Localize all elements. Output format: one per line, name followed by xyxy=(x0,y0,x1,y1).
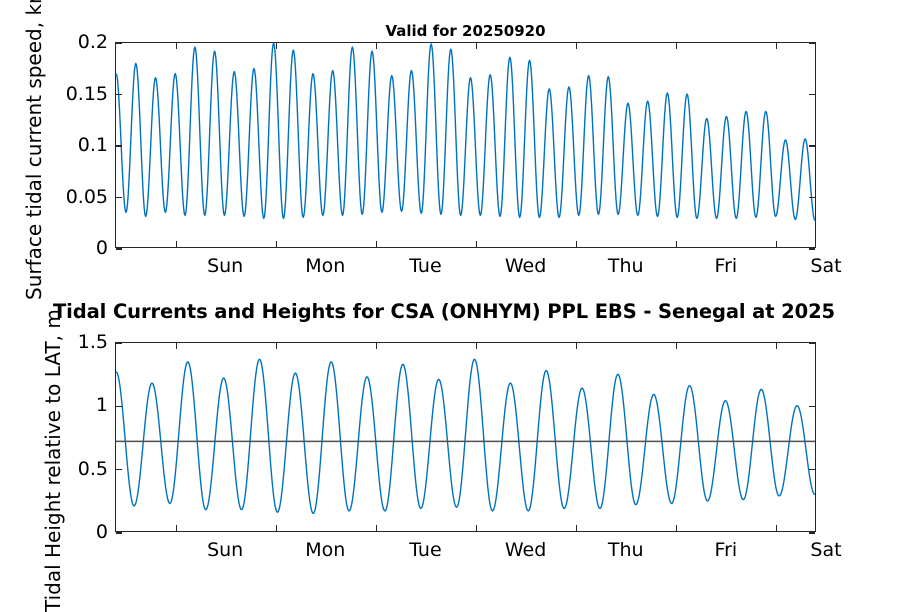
x-tick-mark xyxy=(176,43,177,49)
x-tick-mark xyxy=(176,343,177,349)
x-tick-label: Sun xyxy=(207,255,243,277)
x-tick-mark xyxy=(676,343,677,349)
y-tick-mark xyxy=(116,406,122,407)
y-tick-label: 0.2 xyxy=(78,31,108,53)
y-tick-label: 0 xyxy=(96,521,108,543)
x-tick-mark xyxy=(576,525,577,531)
x-tick-mark xyxy=(276,241,277,247)
x-tick-mark xyxy=(176,241,177,247)
y-tick-mark xyxy=(116,532,122,533)
x-tick-mark xyxy=(576,43,577,49)
y-tick-mark xyxy=(809,248,815,249)
y-tick-mark xyxy=(809,532,815,533)
tidal-figure: Valid for 20250920 00.050.10.150.2 Surfa… xyxy=(0,0,900,600)
y-tick-mark xyxy=(809,42,815,43)
y-tick-label: 1 xyxy=(96,394,108,416)
x-tick-label: Sun xyxy=(207,539,243,561)
x-tick-label: Mon xyxy=(305,255,345,277)
top-panel-title: Valid for 20250920 xyxy=(115,22,816,40)
x-tick-mark xyxy=(676,241,677,247)
x-tick-label: Thu xyxy=(608,539,644,561)
y-tick-mark xyxy=(116,145,122,146)
y-tick-mark xyxy=(809,406,815,407)
y-tick-mark xyxy=(116,42,122,43)
y-tick-mark xyxy=(116,197,122,198)
x-tick-label: Wed xyxy=(505,255,546,277)
x-tick-mark xyxy=(776,43,777,49)
x-tick-label: Sat xyxy=(810,539,841,561)
x-tick-label: Mon xyxy=(305,539,345,561)
x-tick-label: Fri xyxy=(715,539,738,561)
x-tick-mark xyxy=(776,241,777,247)
x-tick-mark xyxy=(176,525,177,531)
x-tick-label: Tue xyxy=(409,255,441,277)
x-tick-mark xyxy=(676,525,677,531)
y-tick-mark xyxy=(809,197,815,198)
y-tick-mark xyxy=(809,342,815,343)
top-panel-ytick-labels: 00.050.10.150.2 xyxy=(0,42,108,248)
bottom-panel-y-axis-label: Tidal Height relative to LAT, m xyxy=(41,309,65,612)
x-tick-label: Wed xyxy=(505,539,546,561)
figure-title: Tidal Currents and Heights for CSA (ONHY… xyxy=(0,300,900,323)
y-tick-label: 0 xyxy=(96,237,108,259)
bottom-panel-plot-area xyxy=(116,343,815,531)
y-tick-mark xyxy=(809,469,815,470)
x-tick-mark xyxy=(476,241,477,247)
x-tick-mark xyxy=(576,241,577,247)
x-tick-mark xyxy=(476,43,477,49)
x-tick-label: Fri xyxy=(715,255,738,277)
x-tick-mark xyxy=(376,43,377,49)
y-tick-label: 0.5 xyxy=(78,458,108,480)
x-tick-mark xyxy=(676,43,677,49)
x-tick-mark xyxy=(276,525,277,531)
x-tick-mark xyxy=(576,343,577,349)
x-tick-mark xyxy=(376,343,377,349)
y-tick-label: 0.1 xyxy=(78,134,108,156)
x-tick-mark xyxy=(776,525,777,531)
y-tick-label: 0.05 xyxy=(66,186,108,208)
y-tick-mark xyxy=(116,94,122,95)
series-line xyxy=(116,43,815,220)
y-tick-mark xyxy=(116,342,122,343)
x-tick-mark xyxy=(376,241,377,247)
x-tick-mark xyxy=(276,43,277,49)
series-line xyxy=(116,359,815,513)
x-tick-mark xyxy=(376,525,377,531)
y-tick-mark xyxy=(809,145,815,146)
x-tick-mark xyxy=(476,525,477,531)
top-panel-axes xyxy=(115,42,816,248)
y-tick-mark xyxy=(116,248,122,249)
y-tick-mark xyxy=(809,94,815,95)
x-tick-mark xyxy=(276,343,277,349)
x-tick-label: Tue xyxy=(409,539,441,561)
y-tick-mark xyxy=(116,469,122,470)
top-panel-plot-area xyxy=(116,43,815,247)
y-tick-label: 1.5 xyxy=(78,331,108,353)
x-tick-mark xyxy=(776,343,777,349)
bottom-panel-axes xyxy=(115,342,816,532)
x-tick-label: Thu xyxy=(608,255,644,277)
top-panel-y-axis-label: Surface tidal current speed, kn xyxy=(22,0,46,300)
y-tick-label: 0.15 xyxy=(66,83,108,105)
x-tick-label: Sat xyxy=(810,255,841,277)
x-tick-mark xyxy=(476,343,477,349)
